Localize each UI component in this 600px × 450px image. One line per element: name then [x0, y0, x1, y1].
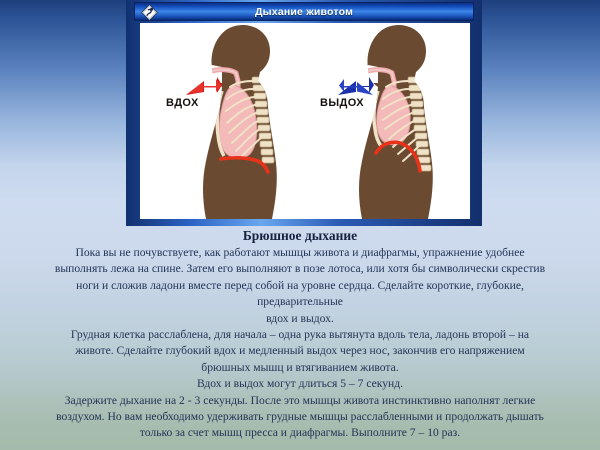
- inhale-label: ВДОХ: [166, 97, 199, 109]
- article-line: предварительные: [8, 294, 592, 310]
- article-text-block: Брюшное дыхание Пока вы не почувствуете,…: [0, 228, 600, 442]
- illustration-frame: Дыхание животом: [126, 0, 482, 226]
- anatomy-figure-inhale: [148, 23, 313, 219]
- article-line: Грудная клетка расслаблена, для начала –…: [8, 327, 592, 343]
- illustration-title-bar: Дыхание животом: [134, 2, 474, 21]
- article-line: Пока вы не почувствуете, как работают мы…: [8, 245, 592, 261]
- illustration-canvas: ВДОХ ВЫДОХ: [140, 23, 470, 219]
- article-line: воздухом. Но вам необходимо удерживать г…: [8, 409, 592, 425]
- article-line: вдох и выдох.: [8, 311, 592, 327]
- illustration-title-text: Дыхание животом: [135, 6, 473, 18]
- anatomy-figure-exhale: [304, 23, 469, 219]
- diamond-emblem-icon: [141, 4, 158, 21]
- article-line: Задержите дыхание на 2 - 3 секунды. Посл…: [8, 393, 592, 409]
- article-heading: Брюшное дыхание: [0, 228, 600, 244]
- article-line: выполнять лежа на спине. Затем его выпол…: [8, 261, 592, 277]
- article-line: брюшных мышц и втягиванием живота.: [8, 360, 592, 376]
- article-line: Вдох и выдох могут длиться 5 – 7 секунд.: [8, 376, 592, 392]
- article-line: только за счет мышц пресса и диафрагмы. …: [8, 425, 592, 441]
- article-body: Пока вы не почувствуете, как работают мы…: [0, 245, 600, 442]
- presentation-slide: Дыхание животом: [0, 0, 600, 450]
- article-line: животе. Сделайте глубокий вдох и медленн…: [8, 343, 592, 359]
- exhale-label: ВЫДОХ: [320, 97, 364, 109]
- article-line: ноги и сложив ладони вместе перед собой …: [8, 278, 592, 294]
